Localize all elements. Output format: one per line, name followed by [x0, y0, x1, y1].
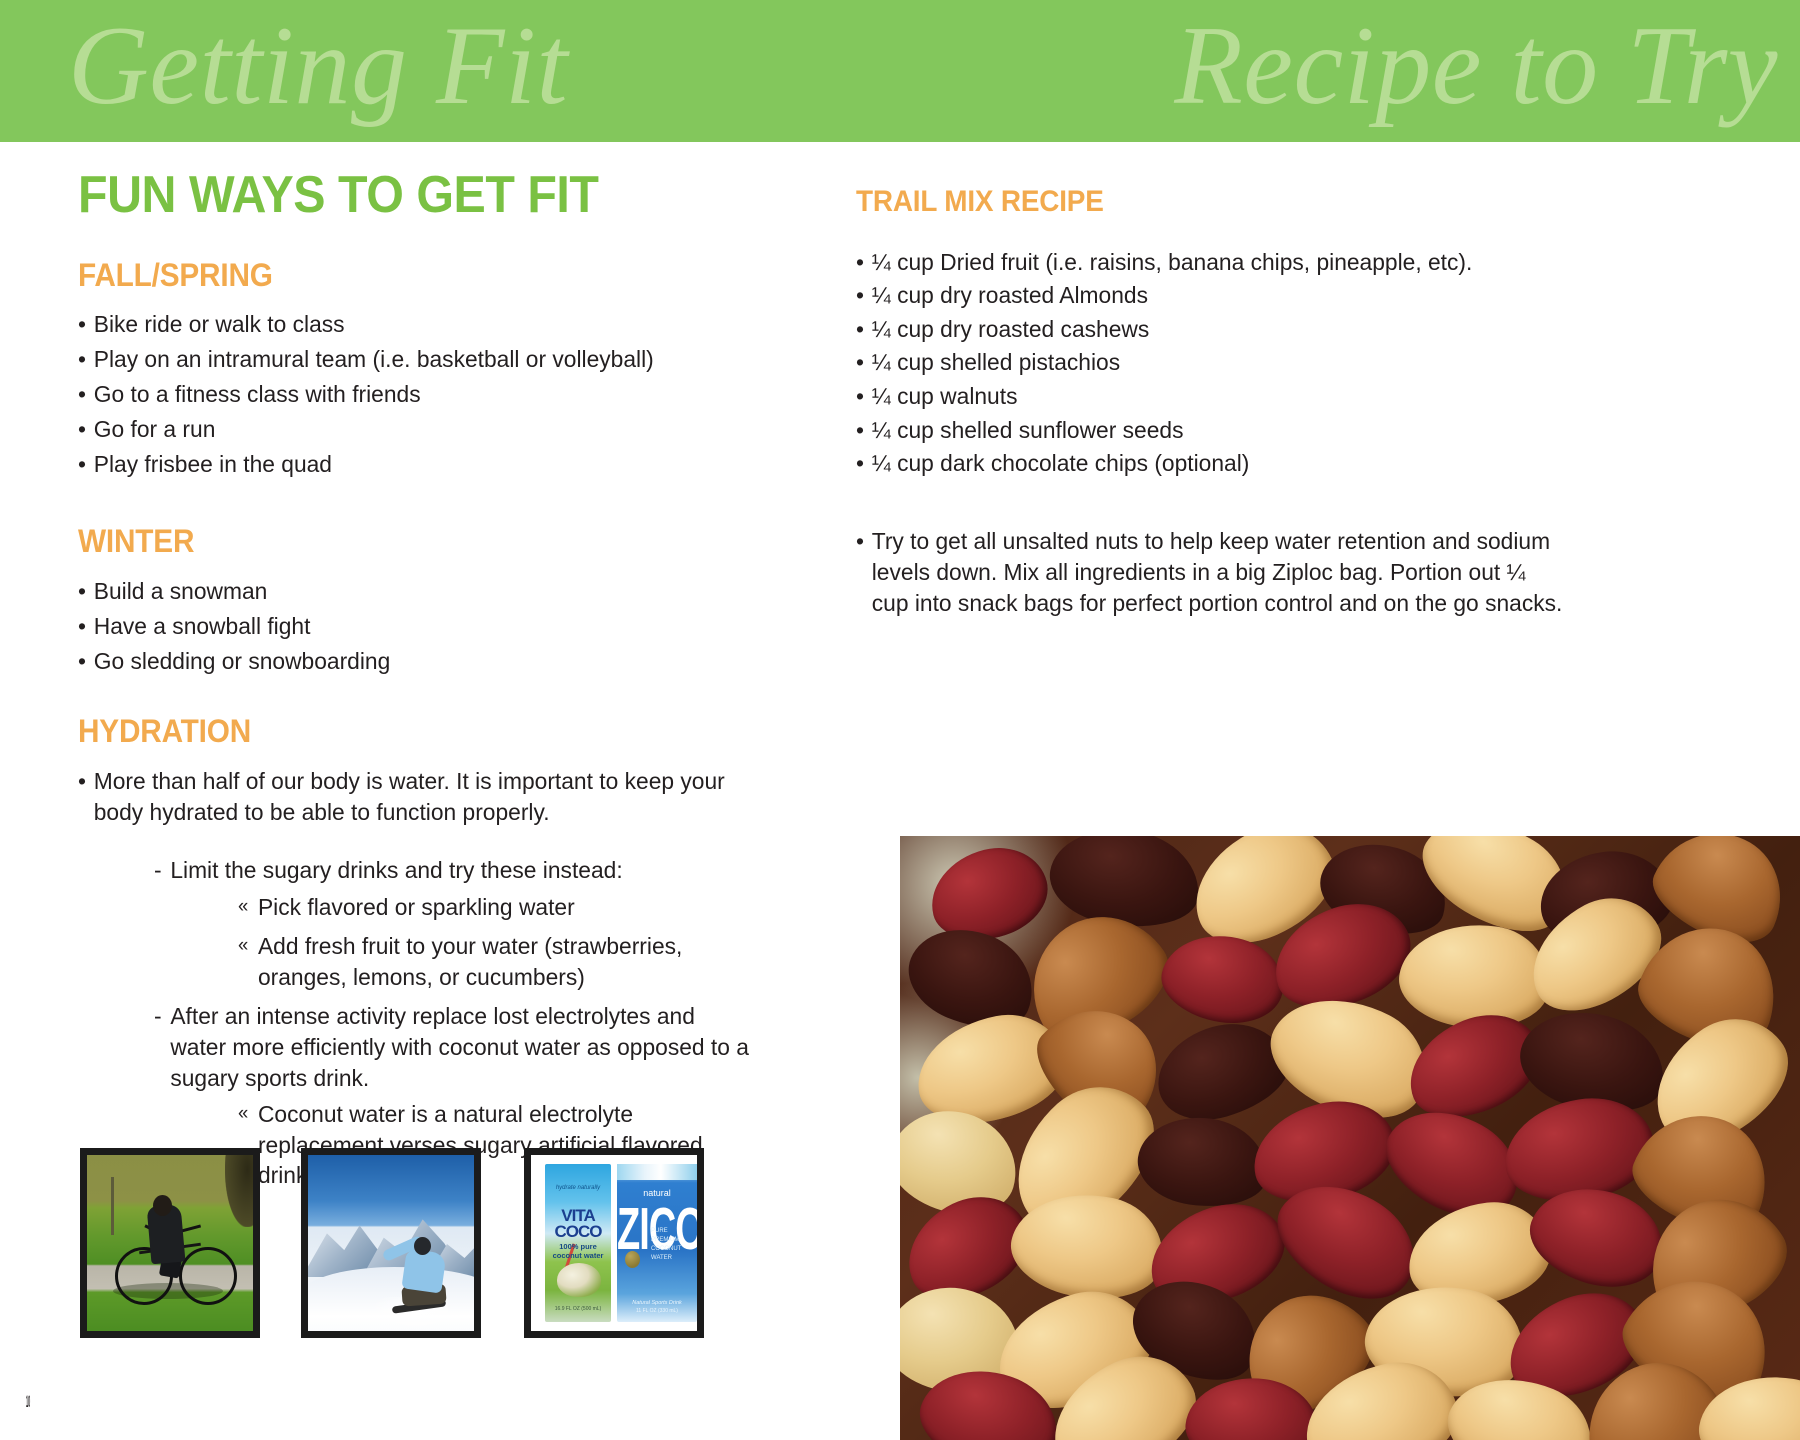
- list-item-text: Bike ride or walk to class: [94, 310, 748, 340]
- list-item: • ¼ cup dry roasted cashews: [856, 315, 1535, 344]
- bullet-marker: •: [856, 416, 872, 445]
- bullet-marker: •: [78, 380, 94, 410]
- list-item: • Play frisbee in the quad: [78, 450, 747, 480]
- section-heading-hydration: HYDRATION: [78, 715, 720, 749]
- zico-natural-text: natural: [617, 1189, 697, 1198]
- section-heading-winter: WINTER: [78, 525, 720, 559]
- list-item: • ¼ cup dark chocolate chips (optional): [856, 449, 1535, 478]
- bullet-marker: •: [856, 248, 872, 277]
- list-item-text: ¼ cup walnuts: [872, 382, 1018, 411]
- section-heading-trail-mix: TRAIL MIX RECIPE: [856, 186, 1507, 218]
- zico-footer-text: Natural Sports Drink: [617, 1301, 697, 1307]
- zico-subtitle-text: PURE PREMIUM COCONUT WATER: [651, 1227, 695, 1263]
- list-item-text: ¼ cup dark chocolate chips (optional): [872, 449, 1250, 478]
- bullet-marker: •: [78, 415, 94, 445]
- header-title-right: Recipe to Try: [1174, 6, 1778, 127]
- trail-mix-note-text: Try to get all unsalted nuts to help kee…: [872, 526, 1564, 619]
- page-number: 10: [26, 1392, 30, 1412]
- list-item: • Have a snowball fight: [78, 612, 747, 642]
- bullet-marker: •: [856, 526, 872, 619]
- list-item-text: ¼ cup shelled pistachios: [872, 348, 1120, 377]
- bullet-marker: •: [78, 345, 94, 375]
- hydration-dash-text: Limit the sugary drinks and try these in…: [170, 855, 622, 886]
- photo-cyclist: [80, 1148, 260, 1338]
- list-item: • Go for a run: [78, 415, 747, 445]
- right-column: TRAIL MIX RECIPE • ¼ cup Dried fruit (i.…: [856, 186, 1556, 619]
- trail-mix-ingredients-list: • ¼ cup Dried fruit (i.e. raisins, banan…: [856, 248, 1556, 479]
- list-item: • Go sledding or snowboarding: [78, 647, 747, 677]
- bullet-marker: •: [78, 647, 94, 677]
- bullet-marker: •: [78, 577, 94, 607]
- list-item: • Play on an intramural team (i.e. baske…: [78, 345, 747, 375]
- bullet-marker: •: [856, 382, 872, 411]
- hydration-dash-text: After an intense activity replace lost e…: [170, 1001, 749, 1093]
- winter-list: • Build a snowman • Have a snowball figh…: [78, 577, 768, 677]
- document-page: Getting Fit Recipe to Try FUN WAYS TO GE…: [0, 0, 1800, 1440]
- bullet-marker: •: [78, 310, 94, 340]
- vita-tagline-1: 100% pure: [545, 1243, 611, 1251]
- list-item: • ¼ cup dry roasted Almonds: [856, 281, 1535, 310]
- list-item-text: Go sledding or snowboarding: [94, 647, 748, 677]
- left-column: FUN WAYS TO GET FIT FALL/SPRING • Bike r…: [78, 168, 768, 1200]
- vita-hydrate-text: hydrate naturally: [545, 1185, 611, 1191]
- bullet-marker: •: [78, 450, 94, 480]
- list-item: • ¼ cup shelled pistachios: [856, 348, 1535, 377]
- list-item-text: Build a snowman: [94, 577, 748, 607]
- page-title: FUN WAYS TO GET FIT: [78, 168, 720, 223]
- list-item: • Build a snowman: [78, 577, 747, 607]
- bullet-marker: •: [856, 315, 872, 344]
- list-item-text: ¼ cup Dried fruit (i.e. raisins, banana …: [872, 248, 1473, 277]
- header-title-left: Getting Fit: [68, 6, 568, 127]
- list-item-text: ¼ cup dry roasted cashews: [872, 315, 1149, 344]
- list-item-text: Go for a run: [94, 415, 748, 445]
- dash-marker: -: [154, 1001, 170, 1093]
- list-item-text: Play frisbee in the quad: [94, 450, 748, 480]
- chevron-icon: «: [238, 892, 258, 923]
- vita-brand-line2: COCO: [545, 1223, 611, 1240]
- bullet-marker: •: [856, 348, 872, 377]
- list-item-text: ¼ cup shelled sunflower seeds: [872, 416, 1184, 445]
- list-item-text: Play on an intramural team (i.e. basketb…: [94, 345, 748, 375]
- hydration-lead: • More than half of our body is water. I…: [78, 766, 747, 827]
- vita-tagline-2: coconut water: [545, 1252, 611, 1260]
- bullet-marker: •: [78, 612, 94, 642]
- fall-spring-list: • Bike ride or walk to class • Play on a…: [78, 310, 768, 479]
- photo-snowboarder: [301, 1148, 481, 1338]
- dash-marker: -: [154, 855, 170, 886]
- list-item: • Go to a fitness class with friends: [78, 380, 747, 410]
- zico-size-text: 11 FL OZ (330 mL): [617, 1309, 697, 1314]
- bullet-marker: •: [856, 449, 872, 478]
- list-item: • ¼ cup walnuts: [856, 382, 1535, 411]
- hydration-dash-item-1: - Limit the sugary drinks and try these …: [154, 855, 750, 886]
- hydration-sub-text: Pick flavored or sparkling water: [258, 892, 575, 923]
- list-item: • ¼ cup Dried fruit (i.e. raisins, banan…: [856, 248, 1535, 277]
- bullet-marker: •: [78, 766, 94, 827]
- bullet-marker: •: [856, 281, 872, 310]
- section-heading-fall-spring: FALL/SPRING: [78, 259, 720, 293]
- list-item: • Bike ride or walk to class: [78, 310, 747, 340]
- list-item-text: Go to a fitness class with friends: [94, 380, 748, 410]
- vita-size-text: 16.9 FL OZ (500 mL): [545, 1307, 611, 1312]
- list-item: • ¼ cup shelled sunflower seeds: [856, 416, 1535, 445]
- hydration-lead-text: More than half of our body is water. It …: [94, 766, 748, 827]
- chevron-icon: «: [238, 931, 258, 992]
- list-item-text: ¼ cup dry roasted Almonds: [872, 281, 1148, 310]
- photo-coconut-water: hydrate naturally VITA COCO 100% pure co…: [524, 1148, 704, 1338]
- photo-trail-mix: [900, 836, 1800, 1440]
- hydration-sub-item: « Pick flavored or sparkling water: [238, 892, 752, 923]
- list-item-text: Have a snowball fight: [94, 612, 748, 642]
- hydration-sub-item: « Add fresh fruit to your water (strawbe…: [238, 931, 752, 992]
- trail-mix-note: • Try to get all unsalted nuts to help k…: [856, 526, 1564, 619]
- hydration-sub-text: Add fresh fruit to your water (strawberr…: [258, 931, 752, 992]
- hydration-dash-item-2: - After an intense activity replace lost…: [154, 1001, 750, 1093]
